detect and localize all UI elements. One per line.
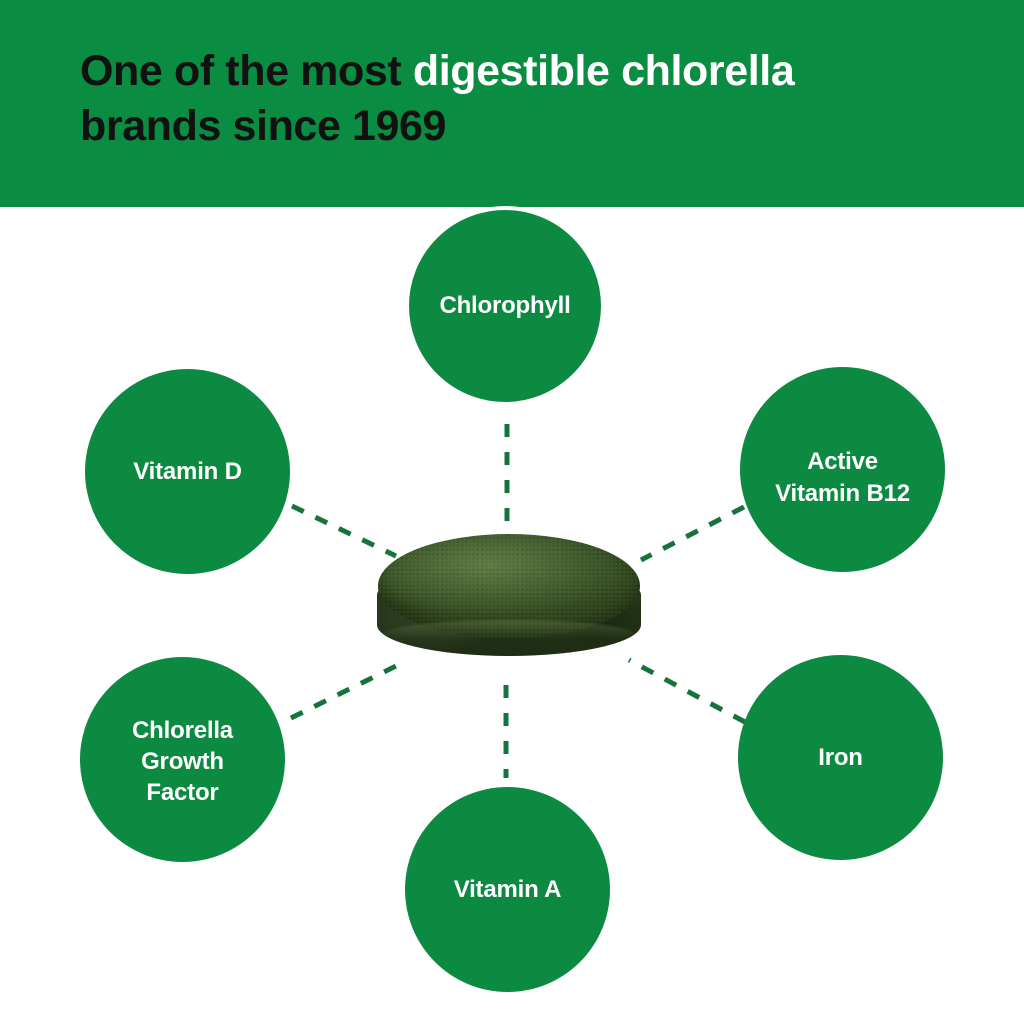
nutrient-label-vitamin-b12: Active Vitamin B12 (761, 446, 924, 508)
infographic-canvas: One of the most digestible chlorella bra… (0, 0, 1024, 1024)
connector-line-cgf (291, 664, 400, 718)
tablet-rim-highlight (383, 620, 635, 650)
connector-line-vitamin-b12 (641, 507, 744, 560)
nutrient-label-chlorophyll: Chlorophyll (425, 290, 584, 321)
nutrient-label-vitamin-d: Vitamin D (119, 456, 255, 487)
nutrient-bubble-vitamin-b12[interactable]: Active Vitamin B12 (740, 367, 945, 572)
nutrient-bubble-chlorophyll[interactable]: Chlorophyll (405, 206, 605, 406)
nutrient-label-vitamin-a: Vitamin A (440, 874, 576, 905)
page-title: One of the most digestible chlorella bra… (80, 44, 980, 154)
headline-part-3: brands since 1969 (80, 102, 446, 150)
nutrient-bubble-chlorella-growth-factor[interactable]: Chlorella Growth Factor (80, 657, 285, 862)
connector-line-iron (629, 660, 745, 722)
nutrient-label-iron: Iron (804, 742, 877, 773)
nutrient-label-chlorella-growth-factor: Chlorella Growth Factor (118, 715, 247, 809)
chlorella-tablet (377, 534, 641, 658)
nutrient-bubble-vitamin-a[interactable]: Vitamin A (405, 787, 610, 992)
nutrient-bubble-iron[interactable]: Iron (738, 655, 943, 860)
nutrient-bubble-vitamin-d[interactable]: Vitamin D (85, 369, 290, 574)
headline-part-2: digestible chlorella (413, 47, 795, 95)
headline-part-1: One of the most (80, 47, 413, 95)
header-band: One of the most digestible chlorella bra… (0, 0, 1024, 207)
